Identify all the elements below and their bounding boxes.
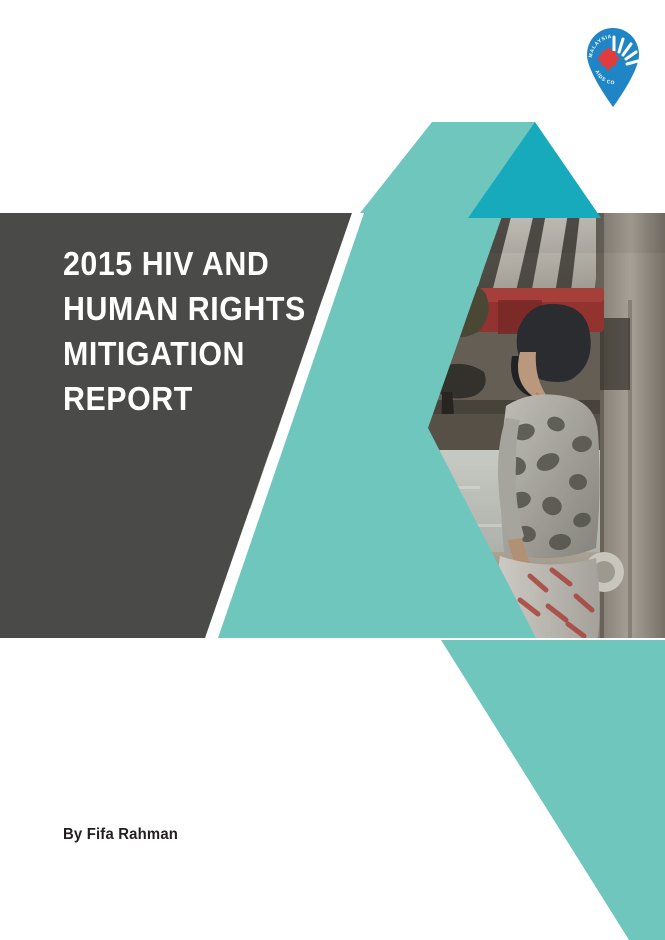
title-line-3: MITIGATION [63, 331, 311, 376]
title-line-1: 2015 HIV AND [63, 241, 311, 286]
lower-white-field [0, 638, 441, 940]
author-byline: By Fifa Rahman [63, 826, 178, 844]
organization-logo[interactable]: MALAYSIAN AIDS COUNCIL [583, 26, 643, 108]
cover-artwork [0, 0, 665, 940]
report-cover-page: MALAYSIAN AIDS COUNCIL 2015 HIV AND HUMA… [0, 0, 665, 940]
title-line-2: HUMAN RIGHTS [63, 286, 311, 331]
cover-title: 2015 HIV AND HUMAN RIGHTS MITIGATION REP… [63, 241, 333, 421]
title-line-4: REPORT [63, 376, 311, 421]
